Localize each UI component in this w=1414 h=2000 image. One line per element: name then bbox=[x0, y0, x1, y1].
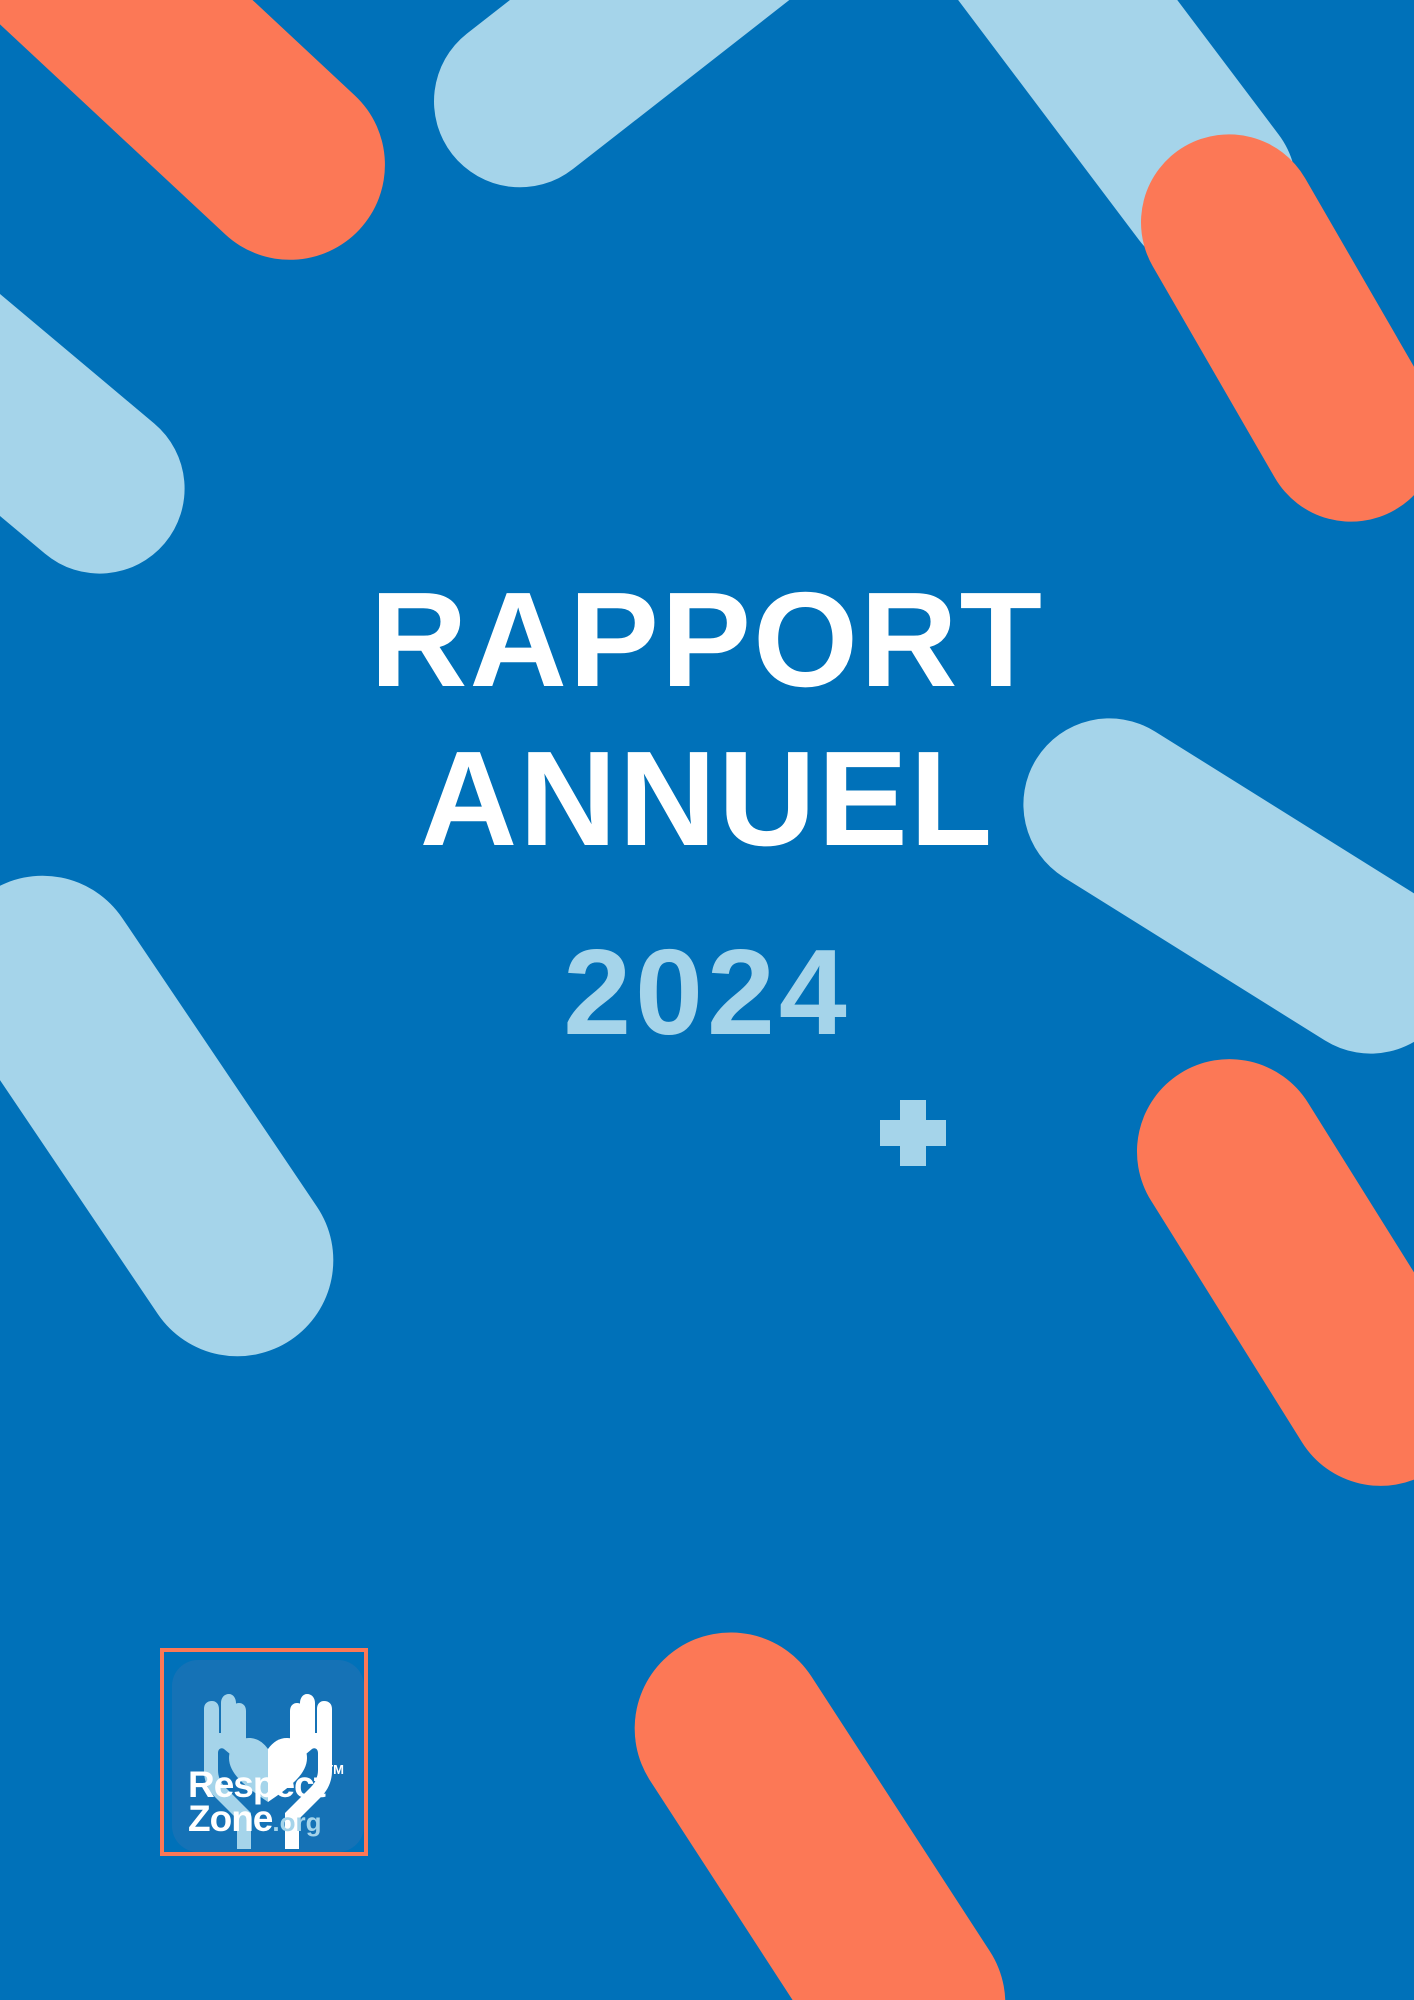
page-title-line-1: RAPPORT bbox=[0, 560, 1414, 719]
cover-year: 2024 bbox=[0, 931, 1414, 1053]
pill-top-center-light bbox=[399, 0, 930, 222]
pill-right-upper-orange bbox=[1109, 102, 1414, 554]
logo-word-tld: .org bbox=[272, 1807, 321, 1837]
logo-orange-frame: Respect TM Zone.org bbox=[160, 1648, 368, 1856]
logo-trademark: TM bbox=[325, 1764, 344, 1776]
pill-top-left-orange bbox=[0, 0, 424, 299]
logo-word-respect: Respect bbox=[188, 1764, 325, 1805]
logo-tile: Respect TM Zone.org bbox=[172, 1660, 364, 1852]
page-title-line-2: ANNUEL bbox=[0, 719, 1414, 878]
pill-top-right-light bbox=[879, 0, 1332, 310]
pill-bottom-right-orange bbox=[1102, 1024, 1414, 1521]
pill-left-upper-light bbox=[0, 202, 219, 609]
pill-bottom-center-orange bbox=[598, 1596, 1042, 2000]
cover-title-block: RAPPORT ANNUEL 2024 bbox=[0, 560, 1414, 1053]
report-cover-page: RAPPORT ANNUEL 2024 bbox=[0, 0, 1414, 2000]
